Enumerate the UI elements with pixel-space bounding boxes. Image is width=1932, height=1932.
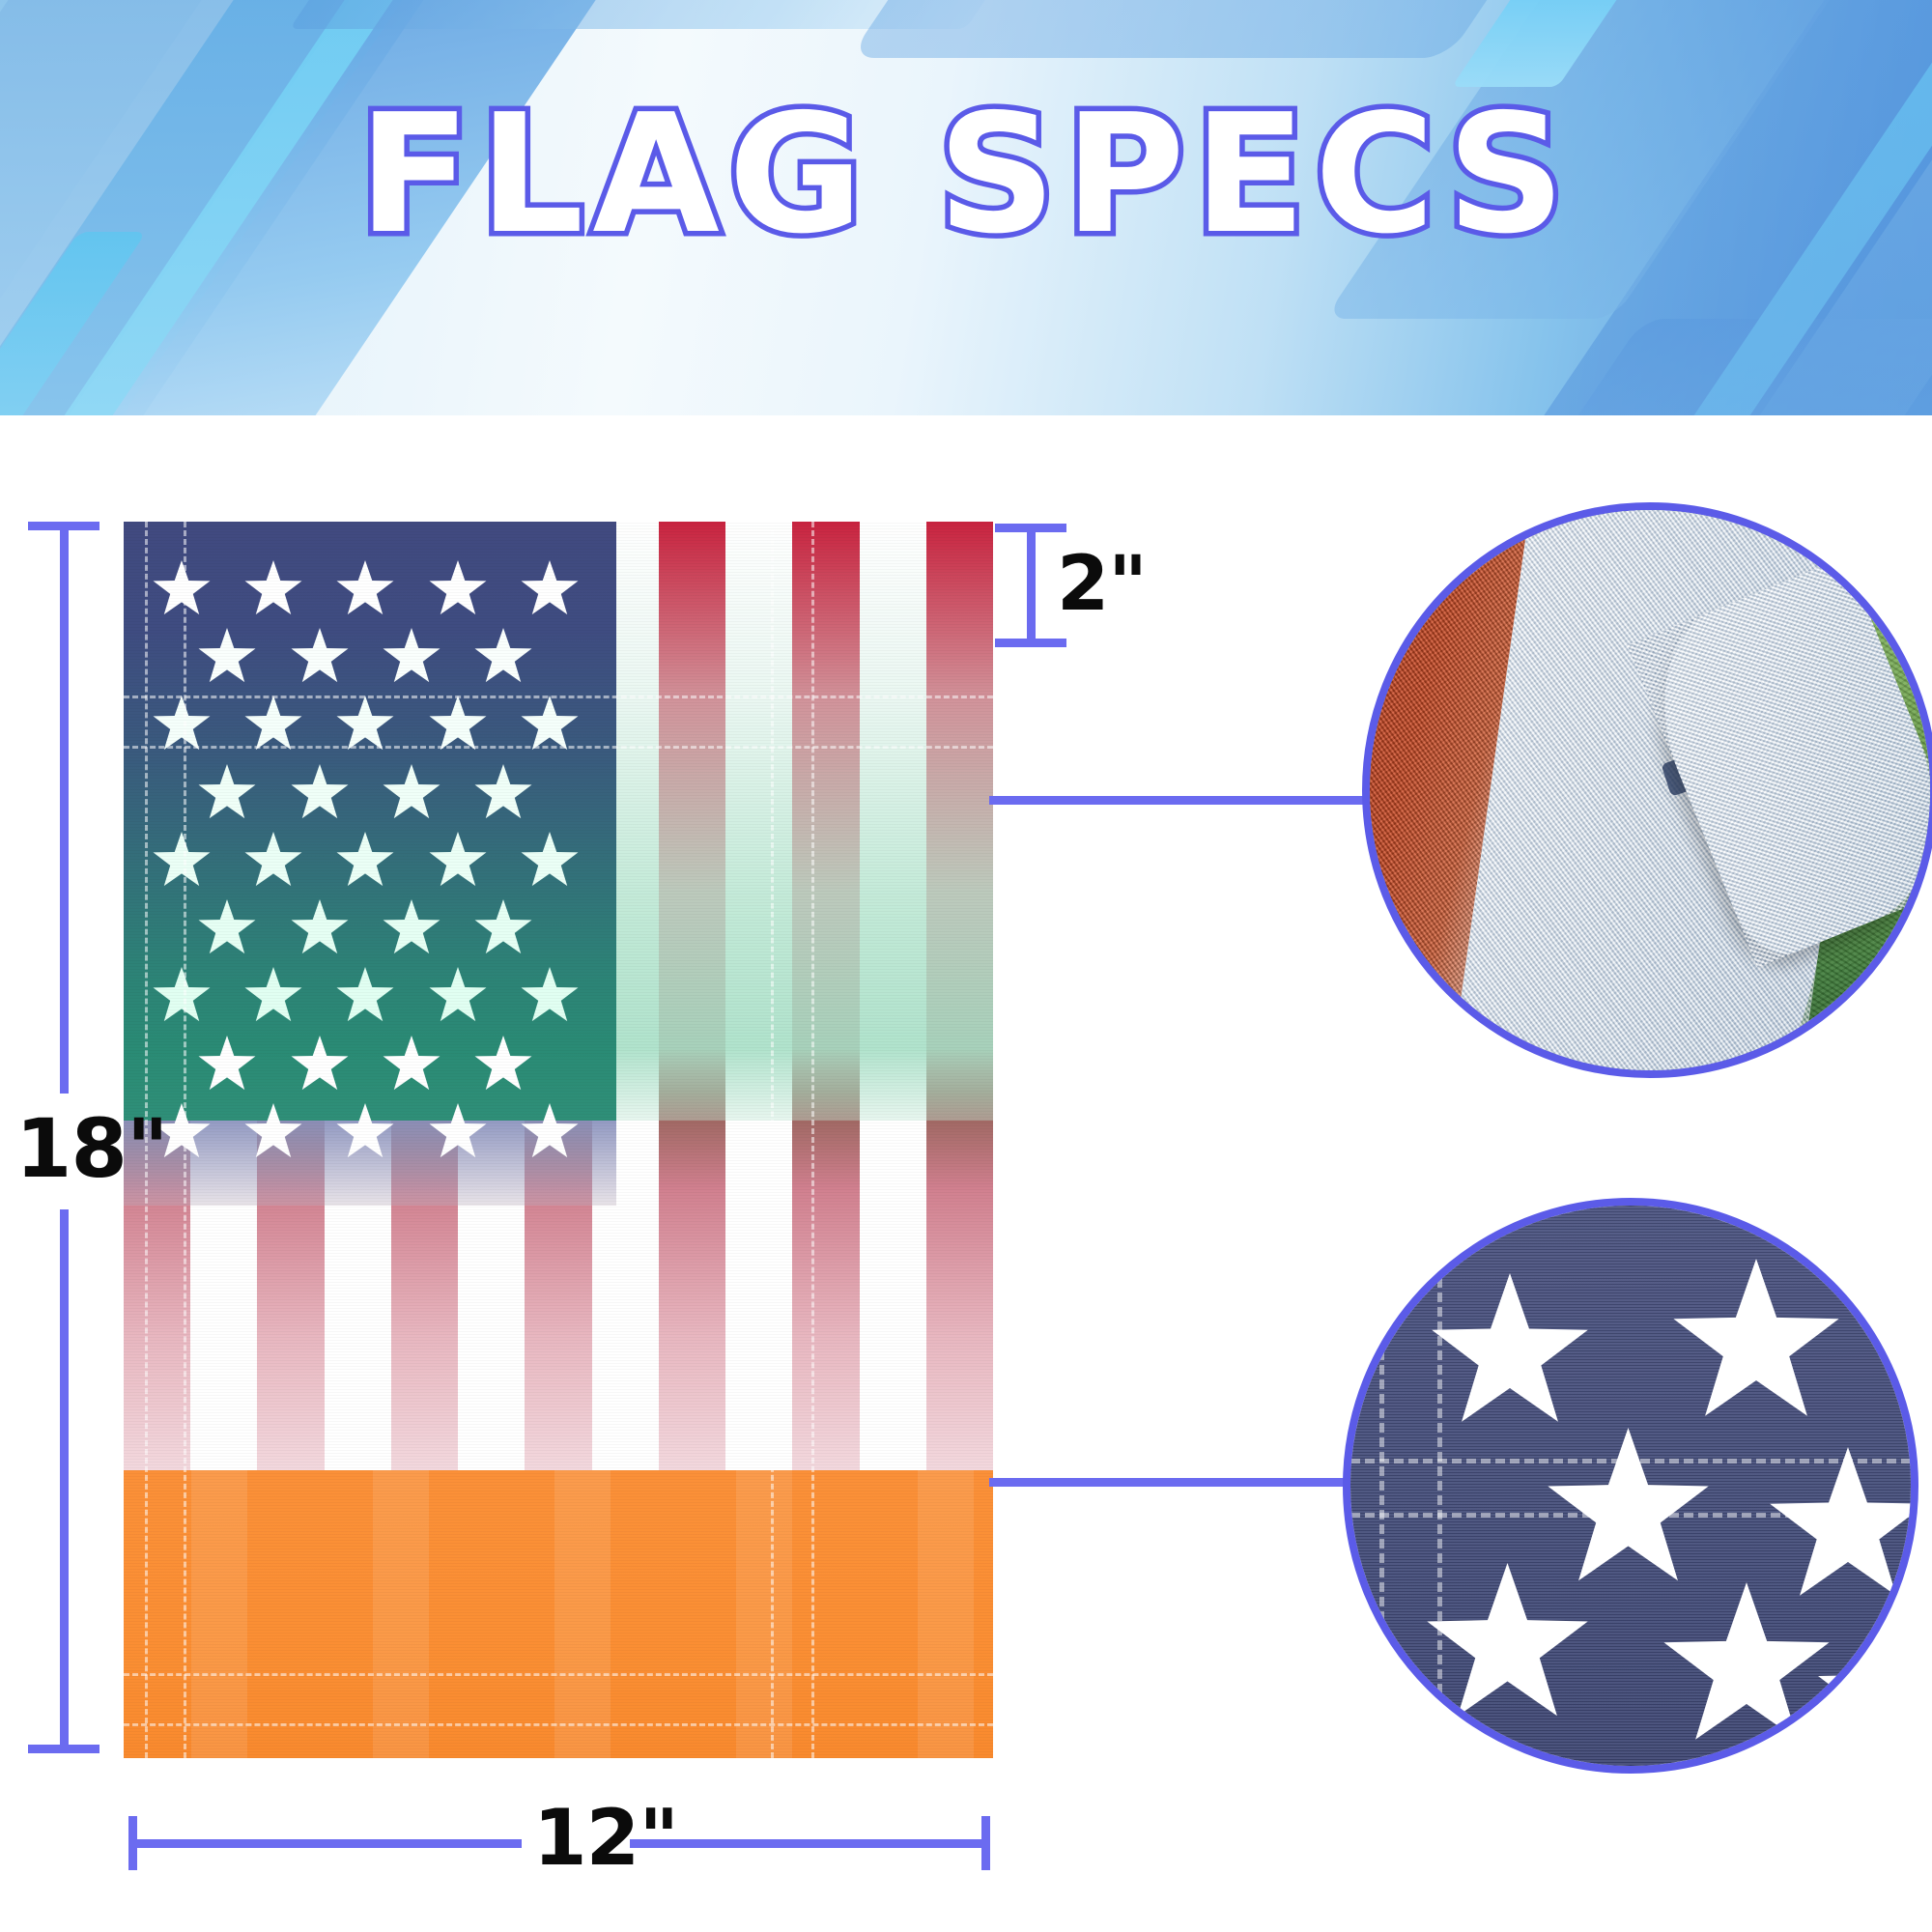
header-diagonal-shape-r7 [1448,319,1932,415]
height-dimension-label: 18" [15,1101,168,1196]
flag-star [382,899,441,959]
header-diagonal-shape-5 [0,232,147,415]
flag-star [520,696,580,755]
page-title: FLAG SPECS [0,93,1932,257]
fabric-closeup-circle[interactable] [1362,502,1932,1078]
flag-star [520,1103,580,1163]
flag-star [243,832,303,892]
sleeve-dimension-label: 2" [1057,541,1147,628]
flag-star [382,764,441,824]
leader-line-fabric-detail [989,796,1381,805]
width-dimension-line-left [135,1839,522,1848]
header-diagonal-shape-r6 [849,0,1643,58]
sleeve-dimension-cap-bottom [995,639,1066,647]
header-diagonal-shape-r5 [1452,0,1669,87]
flag-star [520,560,580,620]
embroidered-star [1428,1273,1592,1442]
height-dimension-line-lower [60,1209,69,1752]
sleeve-dimension-line [1027,529,1036,645]
embroidered-star [1423,1563,1592,1737]
width-dimension-cap-right [981,1816,990,1870]
embroidered-stars-circle[interactable] [1343,1198,1918,1774]
height-dimension-line-upper [60,527,69,1094]
flag-star [152,560,212,620]
height-dimension-cap-bottom [28,1745,99,1753]
sleeve-dimension-cap-top [995,524,1066,532]
embroidered-star [1669,1259,1843,1437]
flag-product-image [124,522,993,1758]
flag-star [290,1036,350,1095]
flag-star [473,1036,533,1095]
flag-star [152,832,212,892]
flag-star [152,967,212,1027]
flag-star [382,1036,441,1095]
embroidered-star [1660,1582,1833,1761]
flag-star [473,764,533,824]
detail-stitch-vertical [1379,1206,1384,1766]
flag-star [243,967,303,1027]
flag-star [428,560,488,620]
leader-line-stars-detail [989,1478,1349,1487]
flag-star [335,1103,395,1163]
flag-star [428,696,488,755]
flag-star [290,628,350,688]
width-dimension-cap-left [128,1816,137,1870]
flag-star [520,832,580,892]
flag-star [473,899,533,959]
flag-star [197,1036,257,1095]
flag-star [197,899,257,959]
flag-star [520,967,580,1027]
flag-star [335,560,395,620]
flag-star [428,967,488,1027]
width-dimension-label: 12" [533,1793,678,1883]
flag-star [335,696,395,755]
flag-star [290,764,350,824]
flag-star [335,832,395,892]
flag-star [428,1103,488,1163]
flag-star [335,967,395,1027]
flag-star [382,628,441,688]
flag-star [197,764,257,824]
header-diagonal-shape-7 [290,0,1025,29]
flag-star [428,832,488,892]
flag-star [243,560,303,620]
flag-star [197,628,257,688]
embroidered-star [1814,1621,1918,1774]
height-dimension-cap-top [28,522,99,530]
flag-star [243,1103,303,1163]
flag-star [473,628,533,688]
flag-star [243,696,303,755]
header-banner: FLAG SPECS [0,0,1932,415]
flag-star [152,696,212,755]
width-dimension-line-right [630,1839,989,1848]
flag-star [290,899,350,959]
flag-orange-band [124,1470,993,1758]
